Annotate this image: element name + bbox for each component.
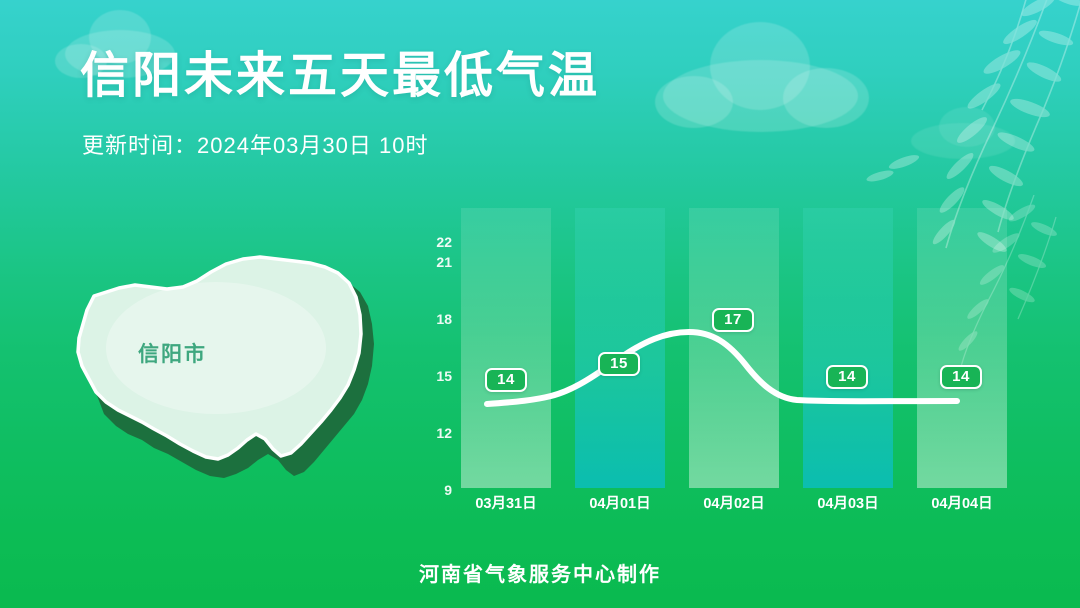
y-tick-label: 15 [436, 368, 452, 384]
weather-infographic: 信阳未来五天最低气温 更新时间：2024年03月30日 10时 信阳市 22 2… [0, 0, 1080, 608]
x-tick-label: 03月31日 [451, 492, 561, 513]
cloud-decoration-right [905, 105, 1025, 163]
y-tick-label: 12 [436, 425, 452, 441]
data-point-label: 14 [940, 365, 982, 389]
footer-credit: 河南省气象服务中心制作 [0, 558, 1080, 587]
data-point-label: 14 [485, 368, 527, 392]
data-point-label: 15 [598, 352, 640, 376]
x-tick-label: 04月01日 [565, 492, 675, 513]
y-tick-label: 22 [436, 234, 452, 250]
update-time-subtitle: 更新时间：2024年03月30日 10时 [82, 128, 428, 160]
y-tick-label: 21 [436, 254, 452, 270]
cloud-decoration-center [655, 18, 870, 133]
y-tick-label: 18 [436, 311, 452, 327]
map-shape [66, 238, 396, 498]
x-tick-label: 04月03日 [793, 492, 903, 513]
x-axis: 03月31日 04月01日 04月02日 04月03日 04月04日 [457, 492, 1012, 518]
temperature-chart: 22 21 18 15 12 9 14 15 17 14 14 03月31日 0… [412, 200, 1012, 500]
map-region-label: 信阳市 [138, 338, 207, 368]
x-tick-label: 04月04日 [907, 492, 1017, 513]
data-point-label: 14 [826, 365, 868, 389]
data-point-label: 17 [712, 308, 754, 332]
xinyang-map [66, 238, 396, 498]
x-tick-label: 04月02日 [679, 492, 789, 513]
y-axis: 22 21 18 15 12 9 [412, 200, 456, 500]
page-title: 信阳未来五天最低气温 [80, 50, 600, 104]
temperature-line [457, 208, 1012, 488]
